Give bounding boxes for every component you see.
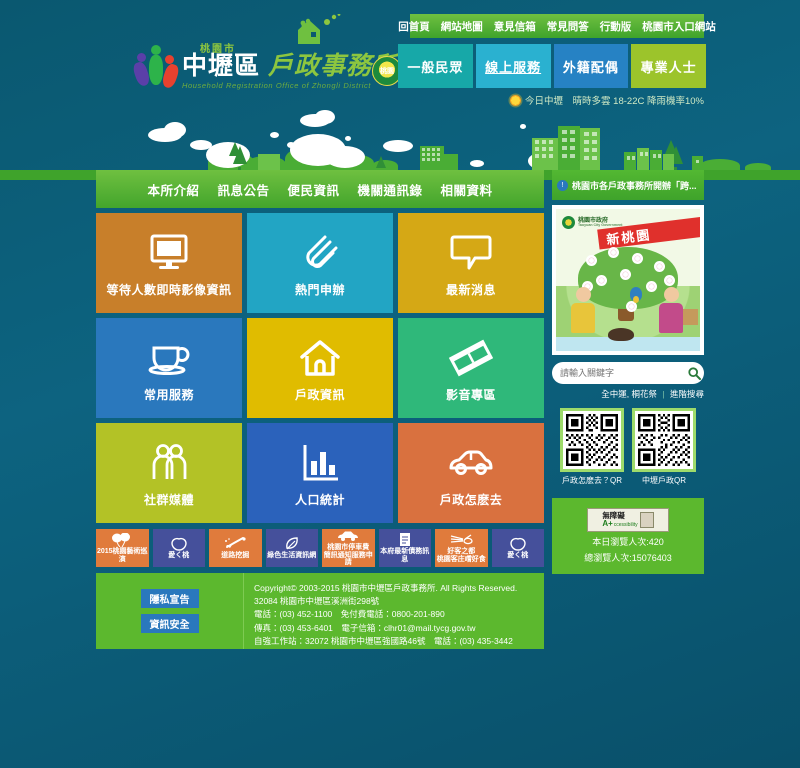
badge-grade-label: A+ bbox=[602, 520, 612, 528]
monitor-icon bbox=[149, 229, 189, 277]
util-home[interactable]: 回首頁 bbox=[398, 19, 430, 34]
logo-district-label: 中壢區 bbox=[182, 52, 260, 80]
search-bar bbox=[552, 361, 704, 385]
qr-caption: 戶政怎麽去？QR bbox=[560, 475, 624, 486]
footer-address: 32084 桃園市中壢區溪洲街298號 bbox=[254, 595, 544, 608]
peach-icon bbox=[170, 536, 188, 551]
tile-label: 人口統計 bbox=[295, 491, 345, 508]
footer-contact-info: Copyright© 2003-2015 桃園市中壢區戶政事務所. All Ri… bbox=[244, 573, 544, 649]
cutlery-icon bbox=[449, 532, 473, 547]
tile-label: 常用服務 bbox=[144, 386, 194, 403]
main-nav: 本所介紹 訊息公告 便民資訊 機關通訊錄 相關資料 bbox=[96, 170, 544, 208]
tile-household-info[interactable]: 戶政資訊 bbox=[247, 318, 393, 418]
weather-text: 今日中壢 晴時多雲 18-22C 降雨機率10% bbox=[525, 93, 704, 107]
tab-foreign-spouse-label: 外籍配偶 bbox=[563, 57, 619, 76]
tab-general-public-label: 一般民眾 bbox=[407, 57, 463, 76]
qr-directions[interactable]: 戶政怎麽去？QR bbox=[560, 408, 624, 486]
marquee-text: 桃園市各戶政事務所開辦「跨... bbox=[572, 179, 697, 192]
paperclip-icon bbox=[300, 229, 340, 277]
tile-label: 等待人數即時影像資訊 bbox=[106, 281, 231, 298]
tab-professionals-label: 專業人士 bbox=[641, 57, 697, 76]
banner-label: 2015桃園藝術巡演 bbox=[96, 548, 149, 563]
bird-icon bbox=[630, 287, 642, 301]
hot-keyword-1[interactable]: 全中運 bbox=[601, 389, 627, 399]
search-button[interactable] bbox=[685, 362, 704, 384]
privacy-button[interactable]: 隱私宣告 bbox=[141, 589, 199, 608]
banner-green-living[interactable]: 綠色生活資訊網 bbox=[266, 529, 319, 567]
badge-en-label: ccessibility bbox=[614, 523, 638, 528]
people-logo-icon bbox=[136, 43, 178, 87]
util-mobile[interactable]: 行動版 bbox=[600, 19, 632, 34]
utility-nav: 回首頁 網站地圖 意見信箱 常見問答 行動版 桃園市入口網站 bbox=[410, 14, 704, 38]
tab-online-services-label: 線上服務 bbox=[485, 57, 541, 76]
boar-icon bbox=[608, 328, 634, 341]
security-button[interactable]: 資訊安全 bbox=[141, 614, 199, 633]
tile-label: 戶政怎麽去 bbox=[440, 491, 503, 508]
poster-gov-en: Taoyuan City Government bbox=[578, 224, 622, 228]
peach-icon bbox=[509, 536, 527, 551]
qr-office-image bbox=[632, 408, 696, 472]
banner-debt-news[interactable]: 本府最新債務訊息 bbox=[379, 529, 432, 567]
house-logo-icon bbox=[290, 14, 344, 44]
nav-announcements[interactable]: 訊息公告 bbox=[217, 180, 269, 199]
banner-label: 道路挖掘 bbox=[221, 552, 249, 560]
banner-strip: 2015桃園藝術巡演 愛く桃 道路挖掘 綠色生活資訊網 bbox=[96, 529, 544, 567]
car-icon bbox=[336, 529, 360, 543]
footer-copyright: Copyright© 2003-2015 桃園市中壢區戶政事務所. All Ri… bbox=[254, 582, 544, 595]
tab-online-services[interactable]: 線上服務 bbox=[476, 44, 551, 88]
nav-services-info[interactable]: 便民資訊 bbox=[287, 180, 339, 199]
logo-english-label: Household Registration Office of Zhongli… bbox=[182, 81, 398, 90]
banner-road-excavation[interactable]: 道路挖掘 bbox=[209, 529, 262, 567]
banner-parking-sms[interactable]: 桃園市停車費簡訊通知服務申請 bbox=[322, 529, 375, 567]
banner-hakka-food[interactable]: 好客之都桃園客庄嚐好食 bbox=[435, 529, 488, 567]
nav-about[interactable]: 本所介紹 bbox=[147, 180, 199, 199]
tile-grid: 等待人數即時影像資訊 熱門申辦 最新消息 bbox=[96, 213, 544, 523]
footer-buttons: 隱私宣告 資訊安全 bbox=[96, 573, 244, 649]
tile-latest-news[interactable]: 最新消息 bbox=[398, 213, 544, 313]
announcement-marquee[interactable]: ! 桃園市各戶政事務所開辦「跨... bbox=[552, 170, 704, 200]
site-header: 桃園市 中壢區 戶政事務所 Household Registration Off… bbox=[0, 0, 800, 115]
site-footer: 隱私宣告 資訊安全 Copyright© 2003-2015 桃園市中壢區戶政事… bbox=[96, 573, 544, 649]
advanced-search-link[interactable]: 進階搜尋 bbox=[670, 389, 704, 399]
site-logo[interactable]: 桃園市 中壢區 戶政事務所 Household Registration Off… bbox=[136, 34, 362, 96]
people-icon bbox=[148, 439, 190, 487]
qr-caption: 中壢戶政QR bbox=[632, 475, 696, 486]
util-sitemap[interactable]: 網站地圖 bbox=[441, 19, 483, 34]
document-icon bbox=[398, 532, 412, 547]
promo-poster[interactable]: 新桃園 桃園市政府 Taoyuan City Government bbox=[552, 205, 704, 355]
banner-label: 愛く桃 bbox=[168, 552, 189, 560]
poster-gov-logo: 桃園市政府 Taoyuan City Government bbox=[562, 216, 622, 229]
util-faq[interactable]: 常見問答 bbox=[547, 19, 589, 34]
nav-directory[interactable]: 機關通訊錄 bbox=[358, 180, 423, 199]
gov-seal-icon bbox=[562, 216, 575, 229]
shovel-icon bbox=[224, 536, 246, 551]
tile-label: 影音專區 bbox=[446, 386, 496, 403]
total-visitors: 總瀏覽人次:15076403 bbox=[584, 551, 672, 564]
left-column: 本所介紹 訊息公告 便民資訊 機關通訊錄 相關資料 等待人數即時影像資訊 bbox=[96, 170, 544, 665]
banner-love-peach-2[interactable]: 愛く桃 bbox=[492, 529, 545, 567]
tile-directions[interactable]: 戶政怎麽去 bbox=[398, 423, 544, 523]
right-column: ! 桃園市各戶政事務所開辦「跨... 新桃園 桃園市政府 Taoyuan Cit… bbox=[552, 170, 704, 665]
tile-population-statistics[interactable]: 人口統計 bbox=[247, 423, 393, 523]
page-content: 本所介紹 訊息公告 便民資訊 機關通訊錄 相關資料 等待人數即時影像資訊 bbox=[96, 170, 704, 665]
bar-chart-icon bbox=[300, 439, 340, 487]
balloons-icon bbox=[111, 532, 133, 547]
banner-label: 好客之都桃園客庄嚐好食 bbox=[437, 548, 486, 563]
tile-label: 熱門申辦 bbox=[295, 281, 345, 298]
tile-waiting-count[interactable]: 等待人數即時影像資訊 bbox=[96, 213, 242, 313]
banner-label: 綠色生活資訊網 bbox=[267, 552, 316, 560]
search-icon bbox=[688, 367, 701, 380]
speech-bubble-icon bbox=[450, 229, 492, 277]
banner-label: 愛く桃 bbox=[507, 552, 528, 560]
hot-keyword-2[interactable]: 桐花祭 bbox=[632, 389, 658, 399]
accessibility-badge[interactable]: 無障礙 A+ ccessibility bbox=[587, 508, 669, 532]
qr-office[interactable]: 中壢戶政QR bbox=[632, 408, 696, 486]
weather-widget: 今日中壢 晴時多雲 18-22C 降雨機率10% bbox=[510, 93, 704, 107]
util-feedback[interactable]: 意見信箱 bbox=[494, 19, 536, 34]
qr-code-row: 戶政怎麽去？QR bbox=[552, 408, 704, 486]
banner-label: 桃園市停車費簡訊通知服務申請 bbox=[322, 544, 375, 567]
accessibility-person-icon bbox=[640, 512, 654, 528]
tab-foreign-spouse[interactable]: 外籍配偶 bbox=[554, 44, 629, 88]
tile-common-services[interactable]: 常用服務 bbox=[96, 318, 242, 418]
tile-video-zone[interactable]: 影音專區 bbox=[398, 318, 544, 418]
info-icon: ! bbox=[557, 180, 568, 191]
poster-character-left bbox=[568, 287, 598, 339]
audience-tabs: 一般民眾 線上服務 外籍配偶 專業人士 bbox=[398, 44, 706, 88]
qr-directions-image bbox=[560, 408, 624, 472]
util-portal[interactable]: 桃園市入口網站 bbox=[642, 19, 716, 34]
banner-label: 本府最新債務訊息 bbox=[379, 548, 432, 563]
tab-general-public[interactable]: 一般民眾 bbox=[398, 44, 473, 88]
poster-character-right bbox=[656, 287, 686, 339]
footer-branch: 自強工作站：32072 桃園市中壢區強國路46號 電話：(03) 435-344… bbox=[254, 635, 544, 648]
today-visitors: 本日瀏覽人次:420 bbox=[592, 535, 664, 548]
tile-label: 社群媒體 bbox=[144, 491, 194, 508]
tile-label: 最新消息 bbox=[446, 281, 496, 298]
house-icon bbox=[299, 334, 341, 382]
tile-label: 戶政資訊 bbox=[295, 386, 345, 403]
stats-footer: 無障礙 A+ ccessibility 本日瀏覽人次:420 總瀏覽人次:150… bbox=[552, 498, 704, 574]
film-strip-icon bbox=[449, 334, 493, 382]
banner-art-tour[interactable]: 2015桃園藝術巡演 bbox=[96, 529, 149, 567]
leaf-icon bbox=[284, 536, 300, 551]
search-input[interactable] bbox=[552, 362, 685, 384]
coffee-cup-icon bbox=[147, 334, 191, 382]
banner-love-peach-1[interactable]: 愛く桃 bbox=[153, 529, 206, 567]
tile-social-media[interactable]: 社群媒體 bbox=[96, 423, 242, 523]
nav-related[interactable]: 相關資料 bbox=[441, 180, 493, 199]
tile-popular-applications[interactable]: 熱門申辦 bbox=[247, 213, 393, 313]
sun-icon bbox=[510, 95, 521, 106]
footer-fax-email: 傳真：(03) 453-6401 電子信箱：clhr01@mail.tycg.g… bbox=[254, 622, 544, 635]
footer-phone: 電話：(03) 452-1100 免付費電話：0800-201-890 bbox=[254, 608, 544, 621]
hot-keywords: 全中運, 桐花祭 | 進階搜尋 bbox=[552, 388, 704, 400]
car-icon bbox=[447, 439, 495, 487]
tab-professionals[interactable]: 專業人士 bbox=[631, 44, 706, 88]
